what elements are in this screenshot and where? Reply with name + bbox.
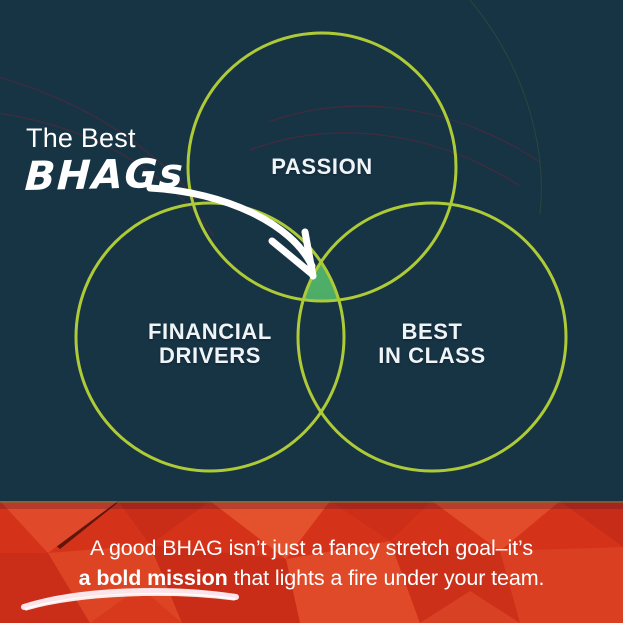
infographic-canvas: PASSION FINANCIAL DRIVERS BEST IN CLASS … bbox=[0, 0, 623, 623]
caption-line-1: A good BHAG isn’t just a fancy stretch g… bbox=[0, 533, 623, 563]
banner-top-divider bbox=[0, 501, 623, 503]
brush-underline-swoosh bbox=[20, 587, 280, 615]
venn-label-financial-drivers: FINANCIAL DRIVERS bbox=[110, 320, 310, 368]
curved-arrow-to-intersection bbox=[150, 188, 316, 278]
venn-diagram bbox=[0, 0, 623, 501]
venn-label-best-in-class: BEST IN CLASS bbox=[332, 320, 532, 368]
bottom-banner: A good BHAG isn’t just a fancy stretch g… bbox=[0, 501, 623, 623]
banner-caption: A good BHAG isn’t just a fancy stretch g… bbox=[0, 533, 623, 593]
callout-the-best: The Best bbox=[26, 123, 256, 153]
callout-block: The Best BHAGs bbox=[26, 123, 256, 199]
venn-stage: PASSION FINANCIAL DRIVERS BEST IN CLASS … bbox=[0, 0, 623, 501]
callout-bhags: BHAGs bbox=[24, 150, 256, 199]
